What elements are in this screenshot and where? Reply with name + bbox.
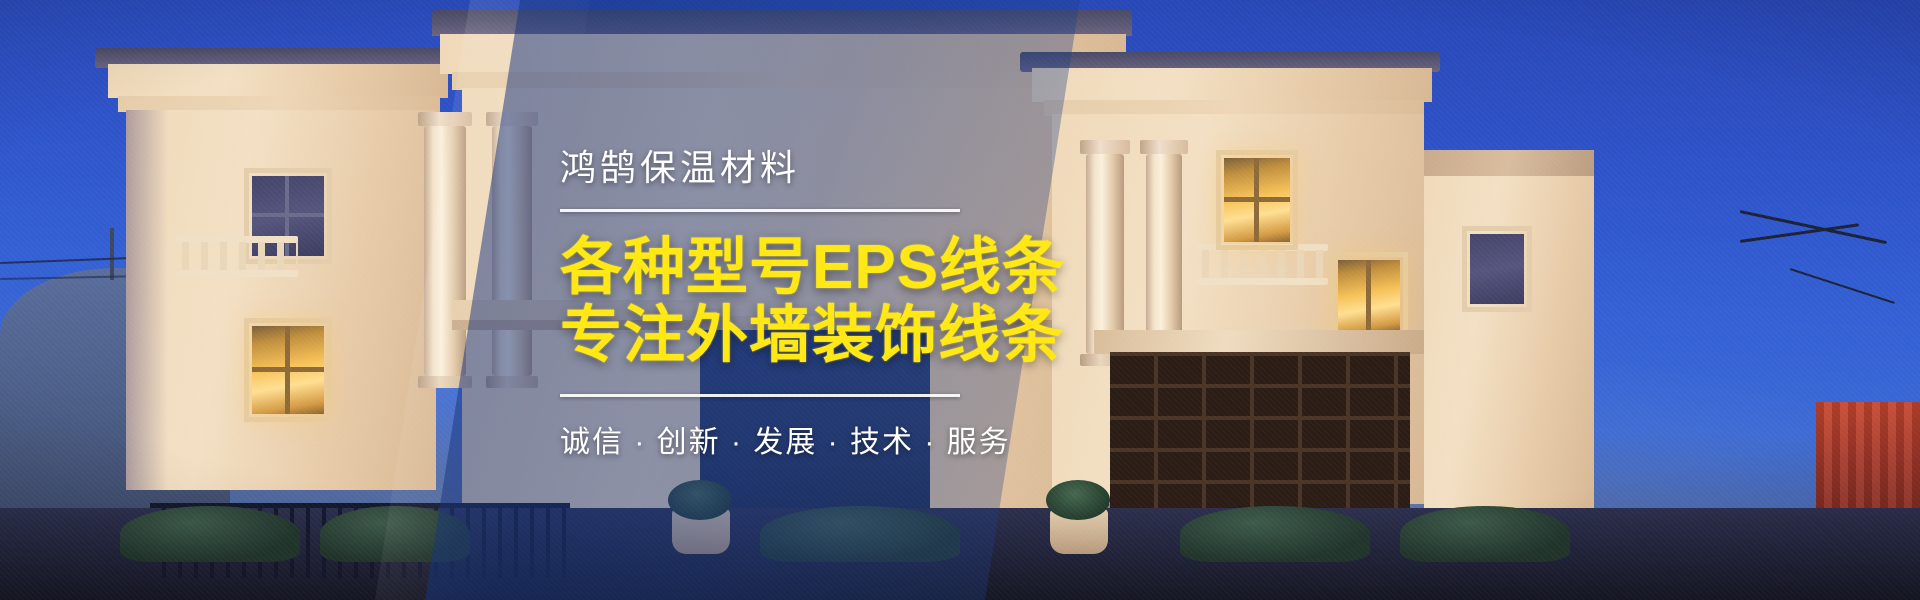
hedge [320, 506, 470, 562]
red-container [1816, 402, 1920, 514]
far-right-cornice [1424, 150, 1594, 176]
headline-line-1: 各种型号EPS线条 [560, 234, 1120, 302]
hedge [120, 506, 300, 562]
column-capital [418, 112, 472, 126]
window-lit [252, 326, 324, 414]
window-dark [1470, 234, 1524, 304]
balustrade-rail [1196, 278, 1328, 285]
promo-banner: 鸿鹄保温材料 各种型号EPS线条 专注外墙装饰线条 诚信 · 创新 · 发展 ·… [0, 0, 1920, 600]
balustrade-rail [176, 270, 298, 277]
divider-top [560, 209, 960, 212]
dome-mast [110, 228, 114, 280]
left-wing-cornice [108, 64, 448, 98]
window-lit [1338, 260, 1400, 332]
hedge [1180, 506, 1370, 562]
column [1146, 154, 1182, 354]
left-wing-shadow [126, 110, 168, 490]
garage-lintel [1094, 330, 1426, 354]
column [492, 126, 532, 376]
column-base [486, 376, 538, 388]
hedge [1400, 506, 1570, 562]
brand-name: 鸿鹄保温材料 [560, 139, 1120, 191]
divider-bottom [560, 394, 960, 397]
balustrade [176, 242, 298, 272]
garage-door [1110, 352, 1410, 512]
banner-copy: 鸿鹄保温材料 各种型号EPS线条 专注外墙装饰线条 诚信 · 创新 · 发展 ·… [560, 0, 1120, 600]
column-capital [486, 112, 538, 126]
left-wing-wall [126, 110, 436, 490]
column [424, 126, 466, 376]
balustrade [1196, 250, 1328, 280]
column-capital [1140, 140, 1188, 154]
headline-line-2: 专注外墙装饰线条 [560, 302, 1120, 370]
far-right-wall [1424, 150, 1594, 510]
tagline: 诚信 · 创新 · 发展 · 技术 · 服务 [560, 417, 1120, 461]
column-base [418, 376, 472, 388]
window-lit [1224, 158, 1290, 242]
